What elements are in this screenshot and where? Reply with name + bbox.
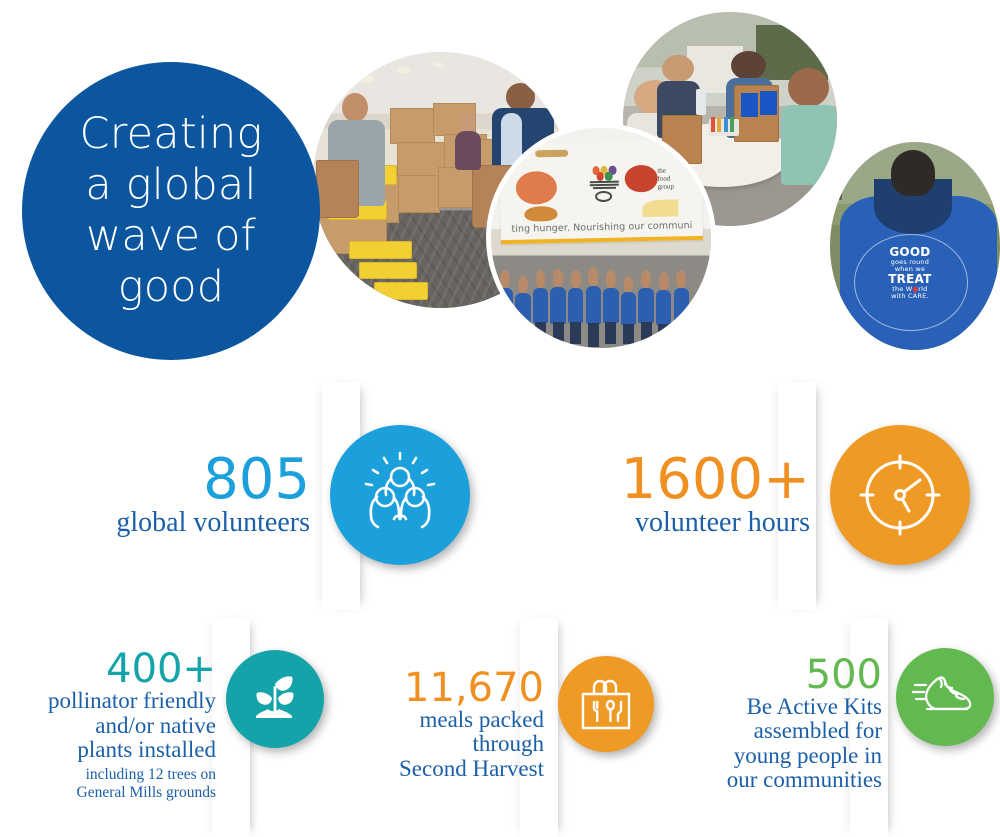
stat-global-volunteers: 805 global volunteers [0, 382, 480, 610]
stat-be-active-kits: 500 Be Active Kits assembled for young p… [660, 618, 1000, 837]
stat-label: Be Active Kits assembled for young peopl… [727, 695, 882, 793]
stat-label: global volunteers [116, 508, 310, 538]
stat-number: 500 [727, 656, 882, 695]
stat-subnote: including 12 trees on General Mills grou… [48, 766, 216, 801]
icon-grocery-bag-utensils [558, 656, 654, 752]
stat-label: meals packed through Second Harvest [399, 708, 544, 781]
photo-group-photo-food-group-banner: thefoodgroup ting hunger. Nourishing our… [491, 128, 711, 348]
photo-volunteer-blue-shirt-back: GOOD goes round when we TREAT the W●rld … [830, 142, 1000, 350]
banner-tagline: ting hunger. Nourishing our communi [500, 220, 703, 235]
stat-label: volunteer hours [621, 508, 810, 538]
shirt-slogan: GOOD goes round when we TREAT the W●rld … [857, 246, 962, 300]
stat-volunteer-hours: 1600+ volunteer hours [480, 382, 1000, 610]
hero-section: thefoodgroup ting hunger. Nourishing our… [0, 0, 1000, 380]
infographic-page: thefoodgroup ting hunger. Nourishing our… [0, 0, 1000, 837]
stat-number: 1600+ [621, 453, 810, 508]
hero-title-circle: Creating a global wave of good [22, 62, 320, 360]
page-title: Creating a global wave of good [55, 109, 286, 314]
stat-pollinator-plants: 400+ pollinator friendly and/or native p… [0, 618, 330, 837]
icon-running-shoe [896, 648, 994, 746]
banner-logo-text: thefoodgroup [657, 167, 674, 191]
icon-seedling-plant [226, 650, 324, 748]
stat-number: 400+ [48, 650, 216, 689]
stats-row-primary: 805 global volunteers [0, 382, 1000, 610]
stat-number: 805 [116, 453, 310, 508]
stats-row-secondary: 400+ pollinator friendly and/or native p… [0, 618, 1000, 837]
stat-number: 11,670 [399, 669, 544, 708]
stat-meals-packed: 11,670 meals packed through Second Harve… [330, 618, 660, 837]
food-group-banner: thefoodgroup ting hunger. Nourishing our… [499, 139, 703, 244]
stat-label: pollinator friendly and/or native plants… [48, 689, 216, 762]
icon-volunteers-raised-hands [330, 425, 470, 565]
icon-clock [830, 425, 970, 565]
